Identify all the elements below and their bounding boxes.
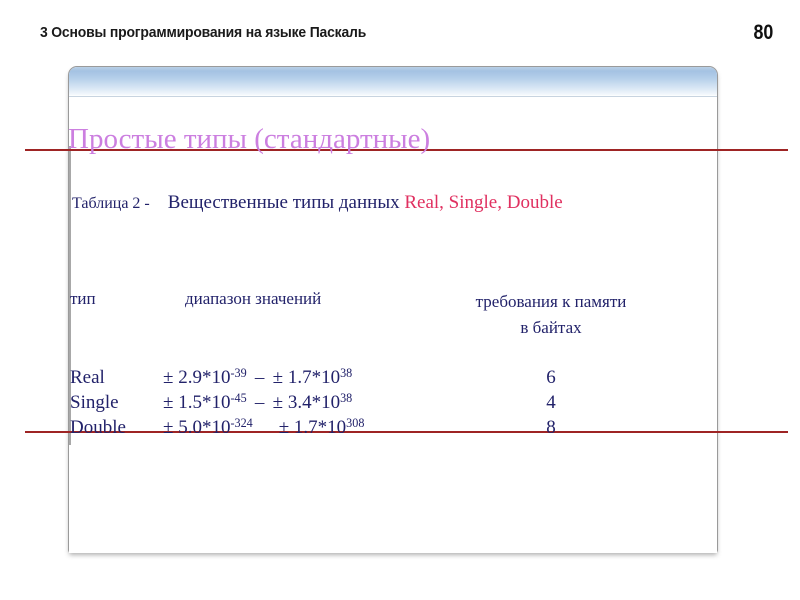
range-low-exponent: -324 xyxy=(230,416,252,430)
cell-range: ± 5.0*10-324± 1.7*10308 xyxy=(163,417,364,439)
table-caption-label: Таблица 2 - xyxy=(72,195,150,212)
table-caption: Таблица 2 -Вещественные типы данных Real… xyxy=(72,190,702,217)
range-low-sign: ± xyxy=(163,367,173,388)
range-low-mantissa: 1.5*10 xyxy=(178,392,230,413)
page-number: 80 xyxy=(753,21,773,45)
range-separator: – xyxy=(247,392,273,414)
column-header-memory: требования к памяти в байтах xyxy=(426,289,676,342)
page-header: 3 Основы программирования на языке Паска… xyxy=(0,24,800,48)
range-high-sign: ± xyxy=(279,417,289,438)
table-row: Double ± 5.0*10-324± 1.7*10308 8 xyxy=(0,417,800,440)
range-high-sign: ± xyxy=(273,392,283,413)
table-row: Single ± 1.5*10-45–± 3.4*1038 4 xyxy=(0,392,800,415)
column-header-range: диапазон значений xyxy=(185,289,321,309)
cell-type: Single xyxy=(70,392,119,414)
range-low-mantissa: 5.0*10 xyxy=(178,417,230,438)
cell-memory: 6 xyxy=(426,367,676,389)
cell-memory: 4 xyxy=(426,392,676,414)
slide-titlebar xyxy=(69,67,717,97)
range-separator: – xyxy=(247,367,273,389)
column-header-memory-line1: требования к памяти xyxy=(426,289,676,315)
column-header-memory-line2: в байтах xyxy=(426,315,676,341)
page-header-title: 3 Основы программирования на языке Паска… xyxy=(40,24,366,41)
cell-memory: 8 xyxy=(426,417,676,439)
range-low-exponent: -45 xyxy=(230,391,246,405)
table-caption-text: Вещественные типы данных xyxy=(168,192,400,213)
range-low-sign: ± xyxy=(163,417,173,438)
range-high-exponent: 38 xyxy=(340,366,352,380)
range-low-sign: ± xyxy=(163,392,173,413)
cell-type: Real xyxy=(70,367,105,389)
range-high-mantissa: 1.7*10 xyxy=(288,367,340,388)
cell-type: Double xyxy=(70,417,126,439)
range-low-mantissa: 2.9*10 xyxy=(178,367,230,388)
range-high-exponent: 38 xyxy=(340,391,352,405)
column-header-type: тип xyxy=(70,289,96,309)
table-caption-types: Real, Single, Double xyxy=(404,192,562,213)
cell-range: ± 1.5*10-45–± 3.4*1038 xyxy=(163,392,352,414)
table-row: Real ± 2.9*10-39–± 1.7*1038 6 xyxy=(0,367,800,390)
range-high-exponent: 308 xyxy=(346,416,364,430)
range-high-sign: ± xyxy=(273,367,283,388)
cell-range: ± 2.9*10-39–± 1.7*1038 xyxy=(163,367,352,389)
range-low-exponent: -39 xyxy=(230,366,246,380)
range-high-mantissa: 1.7*10 xyxy=(294,417,346,438)
range-high-mantissa: 3.4*10 xyxy=(288,392,340,413)
slide-title: Простые типы (стандартные) xyxy=(68,123,430,156)
